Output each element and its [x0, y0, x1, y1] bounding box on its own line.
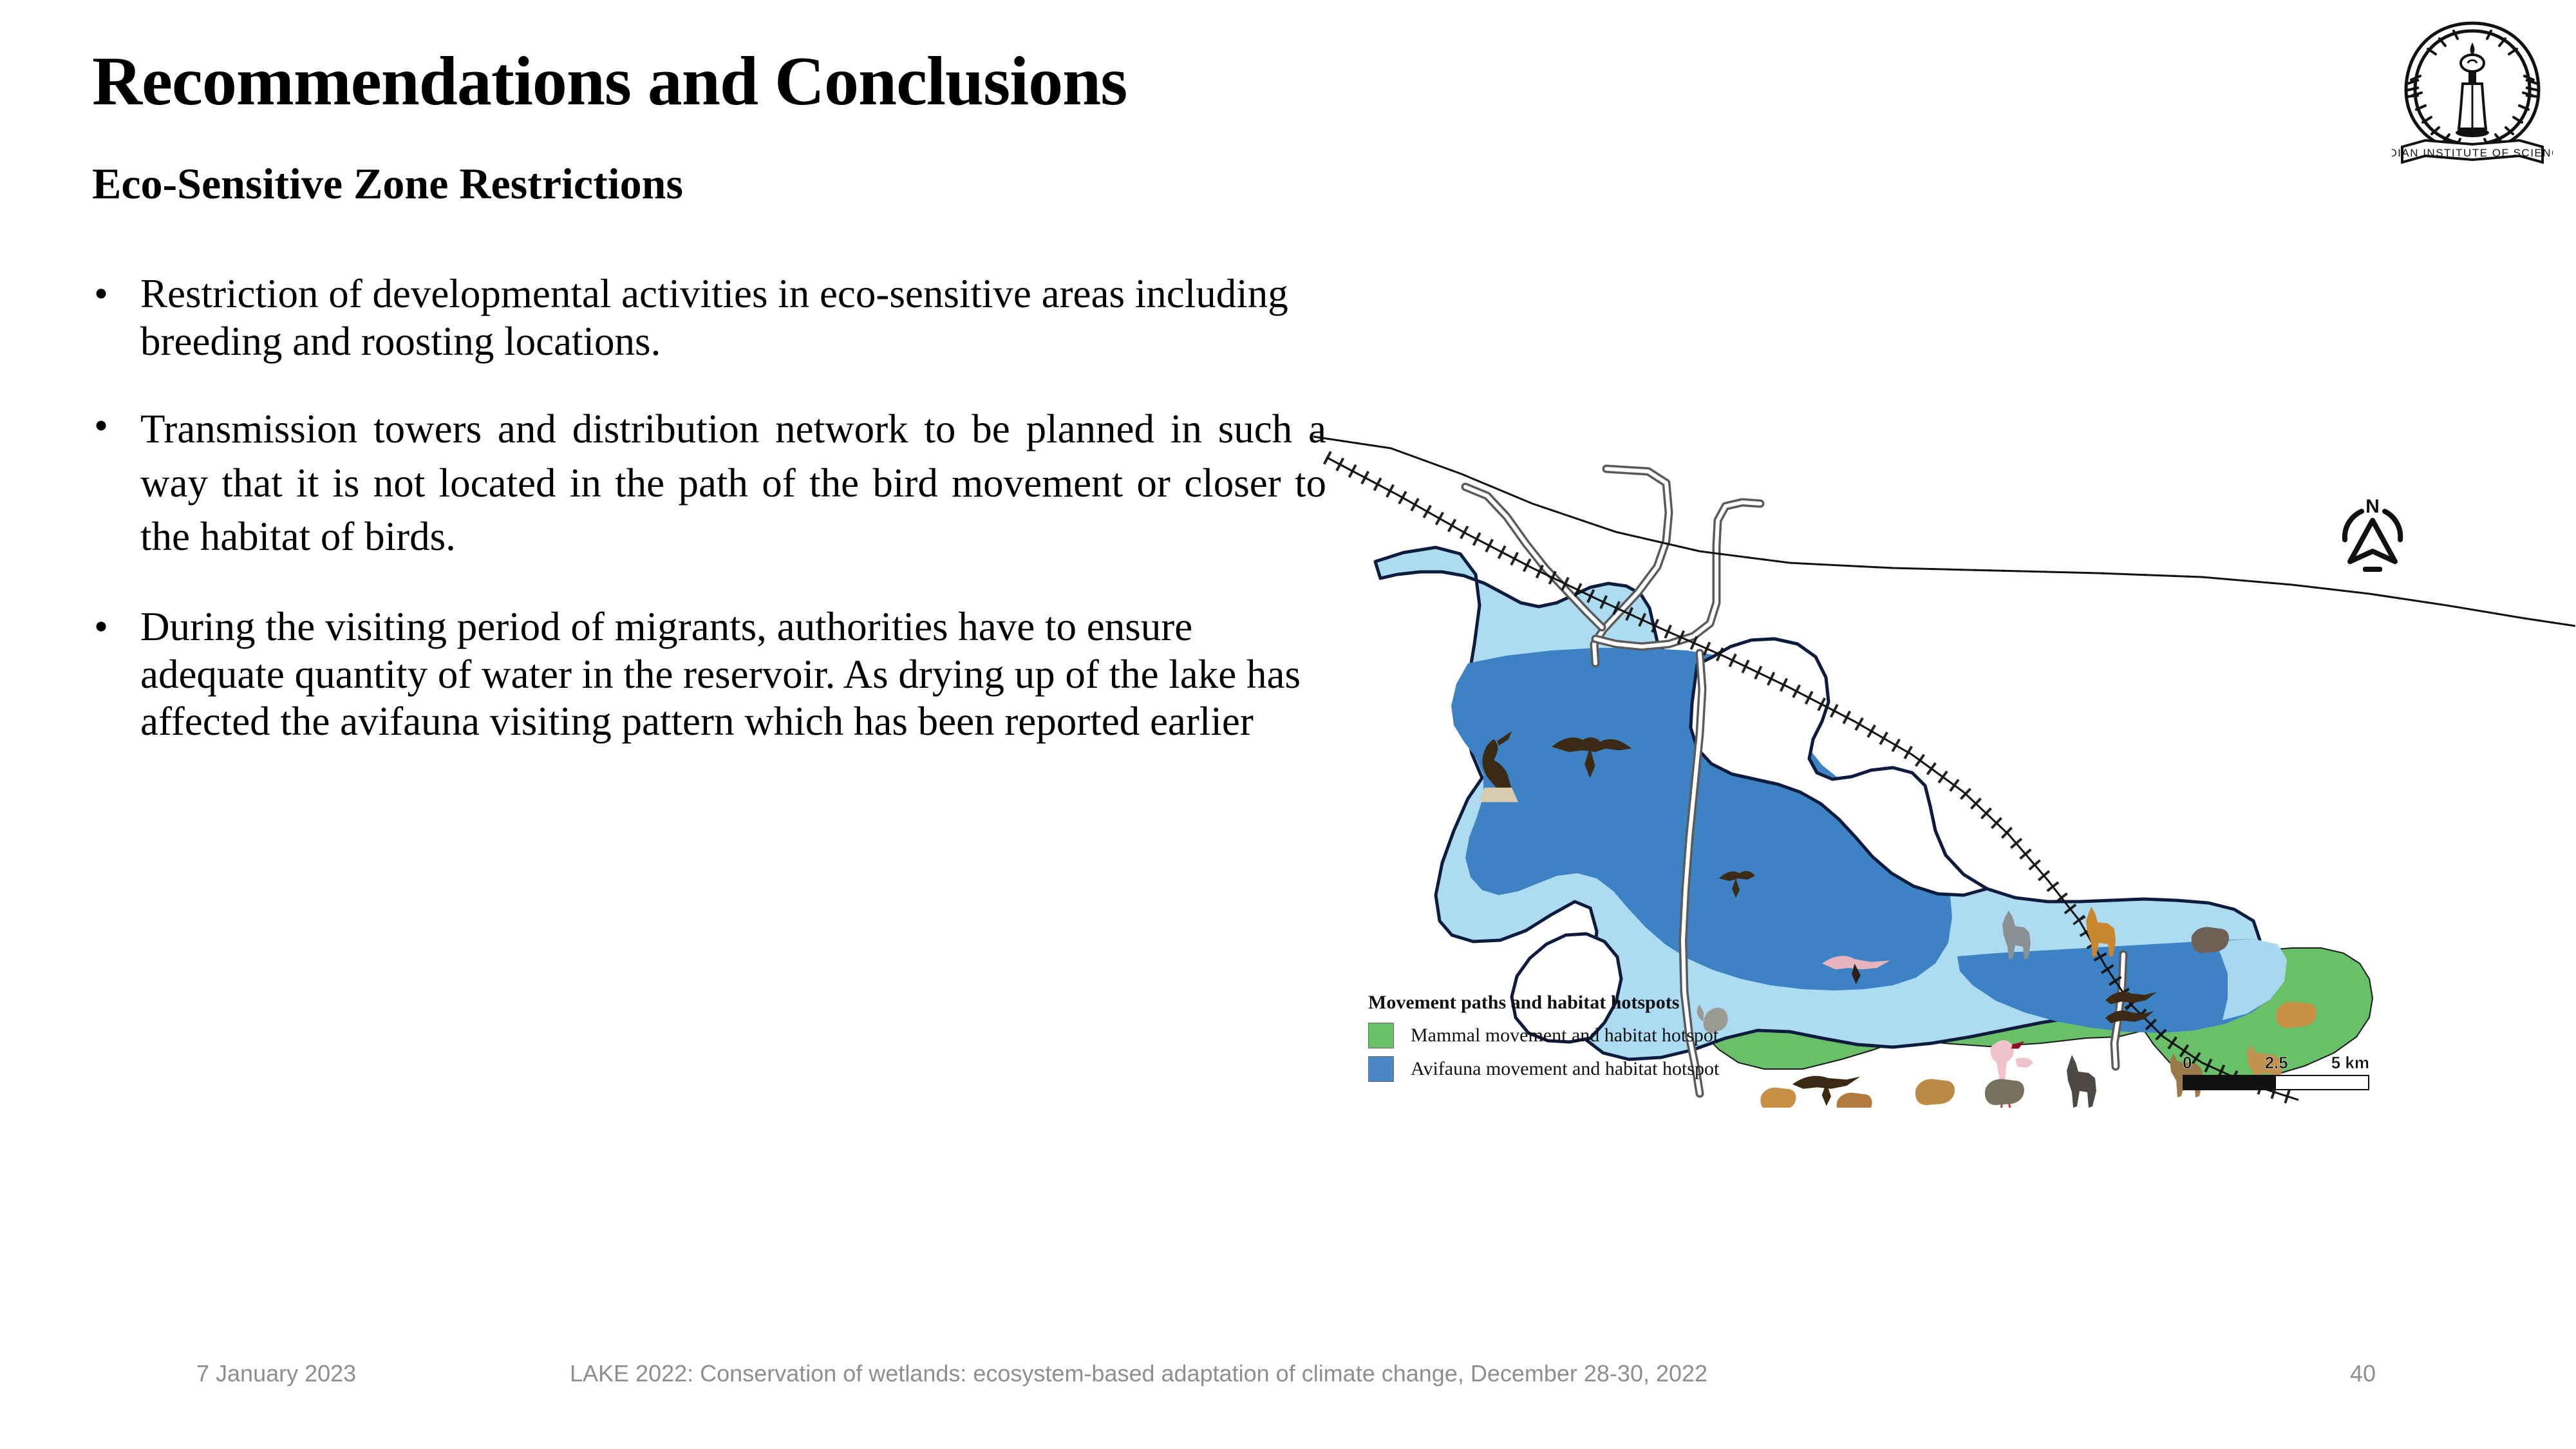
list-item: • Transmission towers and distribution n…	[84, 402, 1326, 563]
legend-label: Avifauna movement and habitat hotspot	[1411, 1058, 1719, 1080]
footer-page-number: 40	[2350, 1360, 2376, 1387]
logo-banner-text: INDIAN INSTITUTE OF SCIENCE	[2392, 147, 2553, 159]
scalebar-mid: 2.5	[2265, 1053, 2288, 1073]
mongoose-pair-icon	[1837, 1093, 1872, 1108]
legend-swatch-blue	[1368, 1056, 1394, 1082]
scalebar-labels: 0 2.5 5 km	[2183, 1053, 2369, 1075]
list-item: • Restriction of developmental activitie…	[84, 270, 1326, 365]
north-arrow-icon: N	[2345, 496, 2400, 572]
legend-item-avifauna: Avifauna movement and habitat hotspot	[1368, 1056, 1719, 1082]
page-title: Recommendations and Conclusions	[92, 45, 1127, 118]
jungle-cat-icon	[1915, 1079, 1955, 1105]
legend-title: Movement paths and habitat hotspots	[1368, 992, 1719, 1014]
scalebar-max: 5 km	[2331, 1053, 2369, 1073]
bullet-marker: •	[94, 270, 108, 318]
habitat-map: N Movement paths and habitat hotspots Ma…	[1313, 386, 2575, 1108]
slide-footer: 7 January 2023 LAKE 2022: Conservation o…	[0, 1360, 2576, 1405]
scalebar-bar	[2183, 1075, 2369, 1090]
bullet-text: During the visiting period of migrants, …	[140, 603, 1326, 746]
iisc-logo: INDIAN INSTITUTE OF SCIENCE	[2392, 12, 2553, 173]
legend-swatch-green	[1368, 1023, 1394, 1048]
legend-label: Mammal movement and habitat hotspot	[1411, 1025, 1718, 1046]
bullet-marker: •	[94, 402, 108, 450]
bullet-text: Restriction of developmental activities …	[140, 270, 1326, 365]
jackal-icon	[2276, 1002, 2317, 1028]
bullet-marker: •	[94, 603, 108, 651]
jackal-pair-icon	[1760, 1088, 1796, 1108]
footer-date: 7 January 2023	[196, 1360, 356, 1387]
bullet-text: Transmission towers and distribution net…	[140, 402, 1326, 563]
map-legend: Movement paths and habitat hotspots Mamm…	[1368, 992, 1719, 1090]
legend-item-mammal: Mammal movement and habitat hotspot	[1368, 1023, 1719, 1048]
blackbuck-icon	[2067, 1055, 2096, 1108]
logo-banner: INDIAN INSTITUTE OF SCIENCE	[2392, 140, 2553, 162]
scalebar-segment-filled	[2184, 1076, 2276, 1089]
footer-conference: LAKE 2022: Conservation of wetlands: eco…	[570, 1360, 1707, 1387]
list-item: • During the visiting period of migrants…	[84, 603, 1326, 746]
slide-canvas: Recommendations and Conclusions Eco-Sens…	[0, 0, 2576, 1449]
svg-text:N: N	[2365, 496, 2380, 517]
scalebar-min: 0	[2183, 1053, 2192, 1073]
bullet-list: • Restriction of developmental activitie…	[84, 270, 1326, 772]
lamp-icon	[2456, 43, 2489, 137]
map-scalebar: 0 2.5 5 km	[2183, 1053, 2369, 1090]
grey-mongoose-icon	[1985, 1079, 2024, 1105]
scalebar-segment-empty	[2276, 1076, 2368, 1089]
page-subtitle: Eco-Sensitive Zone Restrictions	[92, 161, 683, 207]
